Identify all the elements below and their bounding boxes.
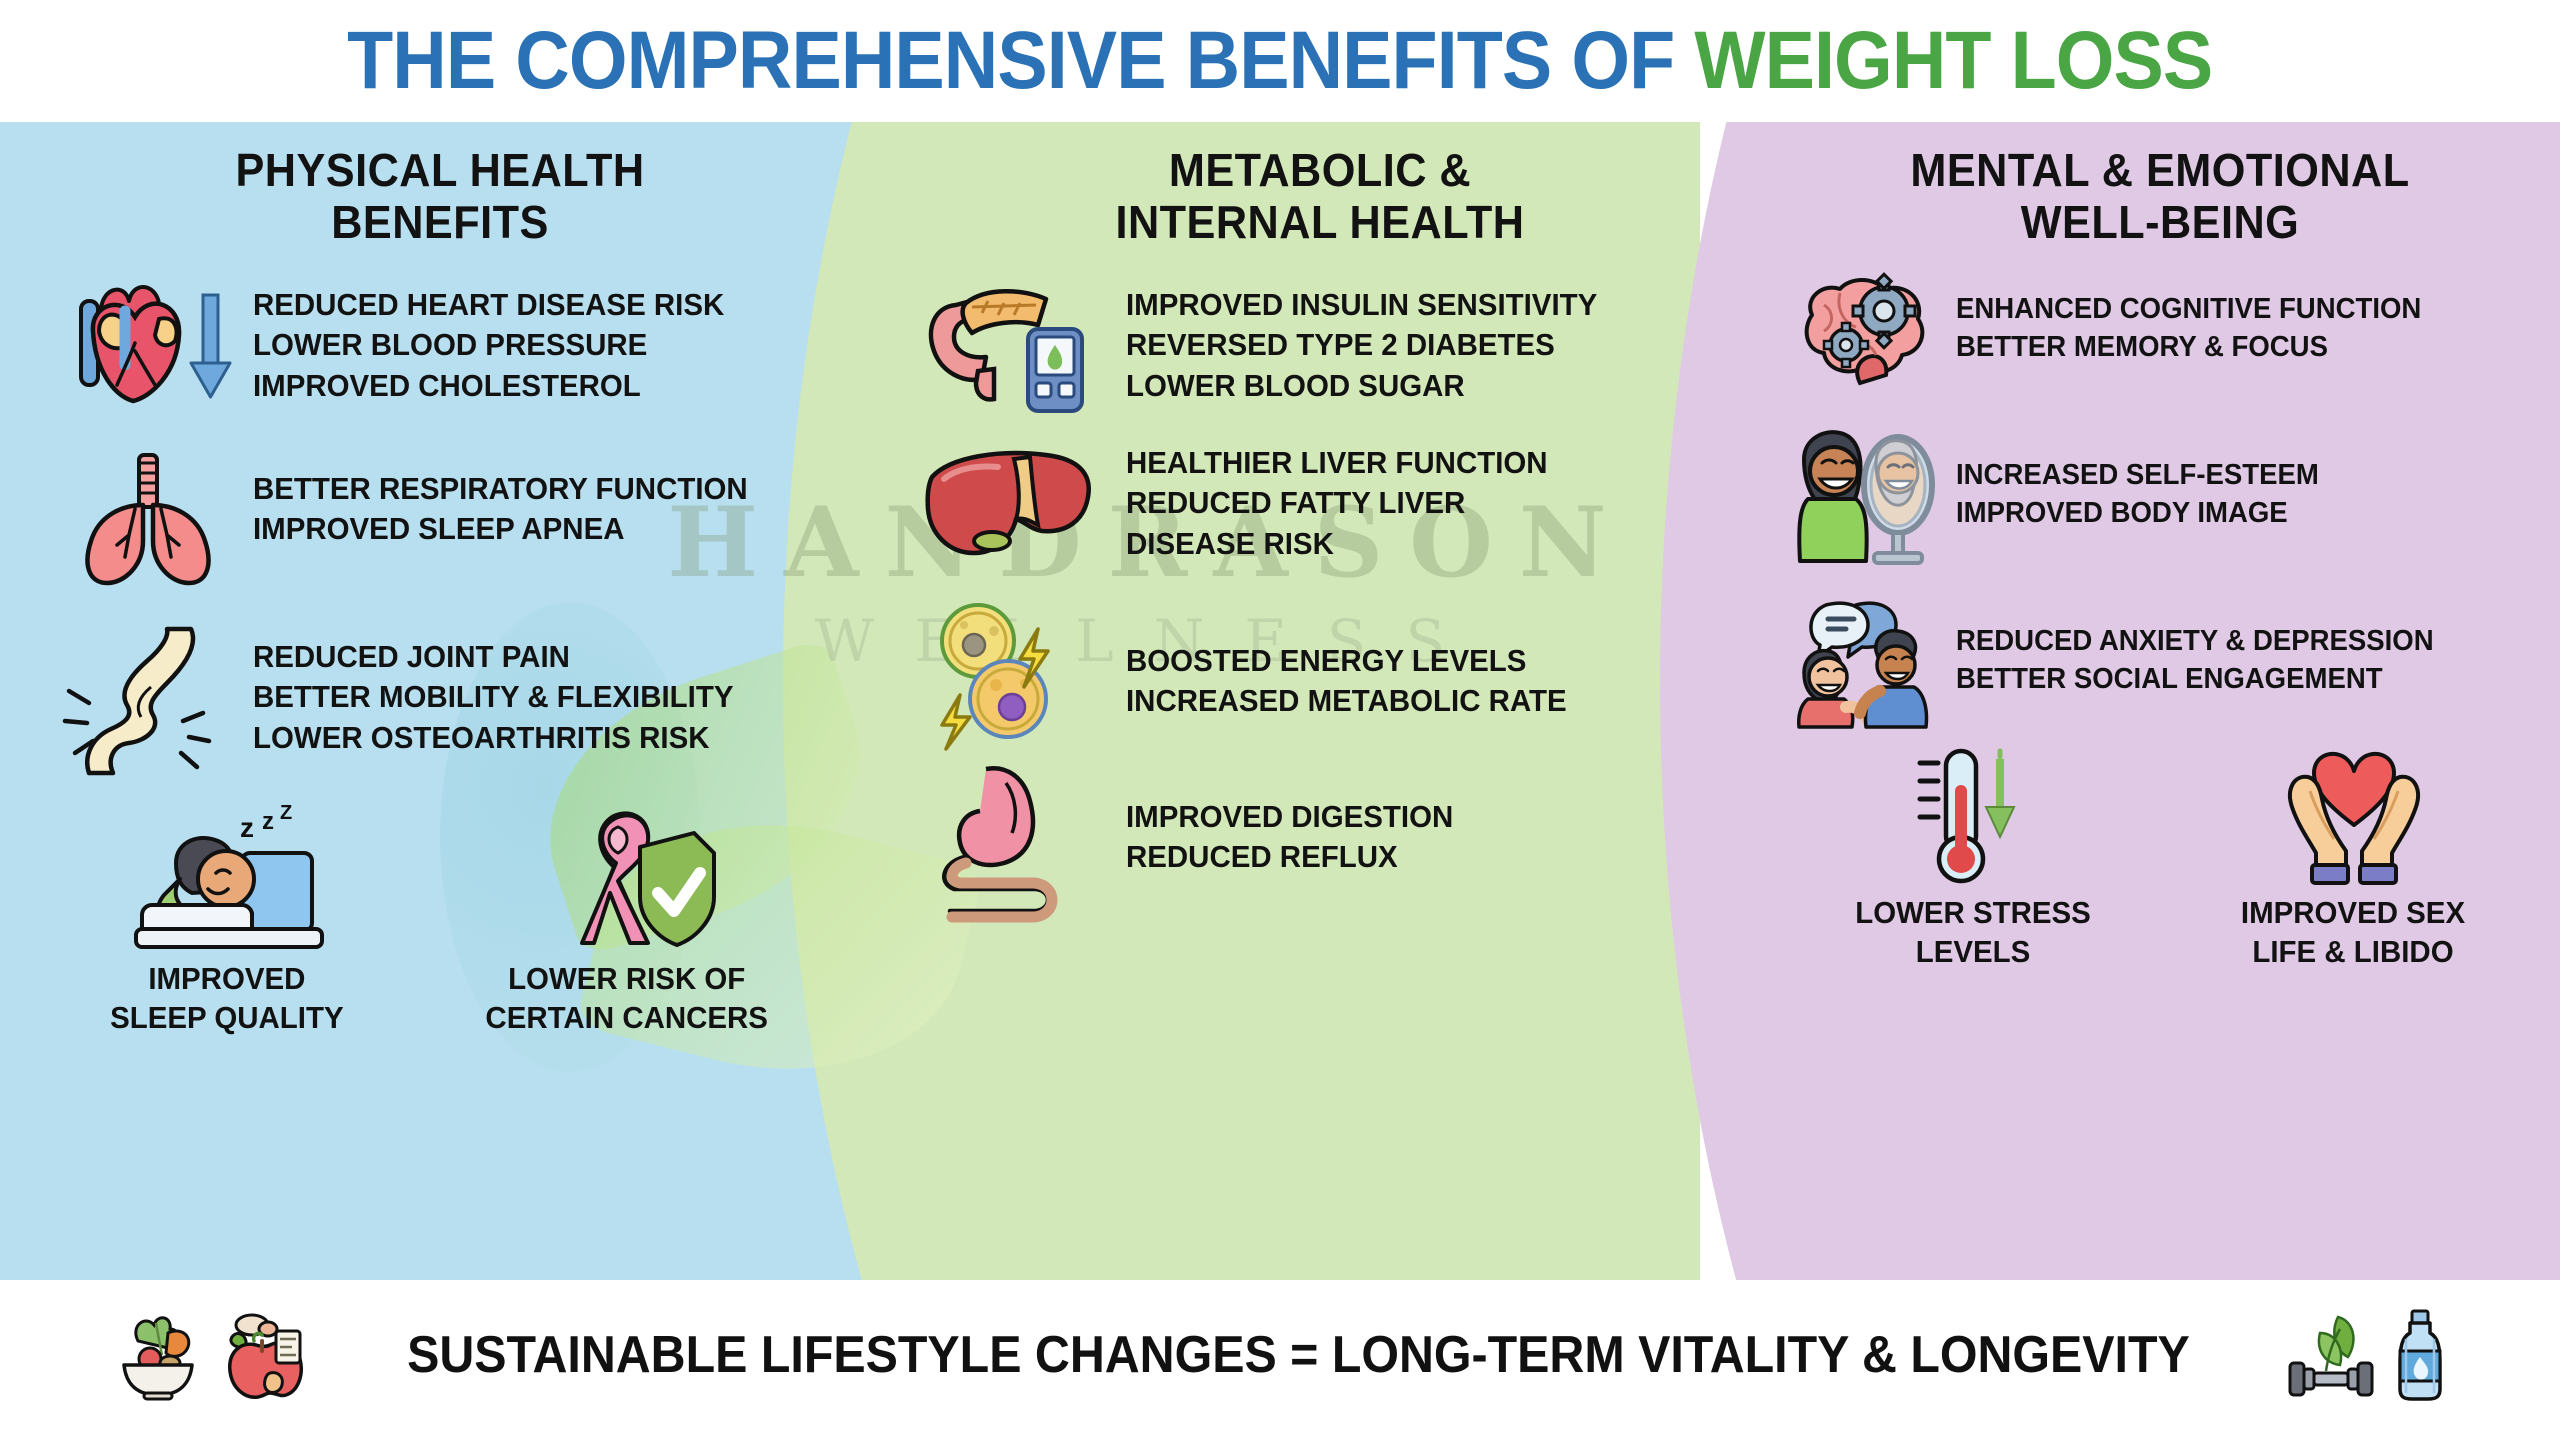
two-people-talking-icon <box>1790 599 1940 729</box>
caption-line2: SLEEP QUALITY <box>110 998 343 1037</box>
benefit-line: REDUCED FATTY LIVER <box>1126 483 1548 524</box>
water-bottle-icon <box>2390 1307 2450 1403</box>
column-physical-health: PHYSICAL HEALTH BENEFITS REDUCED <box>0 122 880 1280</box>
svg-text:Z: Z <box>280 802 292 824</box>
benefit-line: IMPROVED SLEEP APNEA <box>253 509 748 550</box>
svg-text:z: z <box>262 808 274 835</box>
column-metabolic-health: METABOLIC & INTERNAL HEALTH IMPR <box>880 122 1760 1280</box>
column-heading-line1: MENTAL & EMOTIONAL <box>1840 144 2479 196</box>
benefit-line: REDUCED REFLUX <box>1126 837 1453 878</box>
benefit-line: REDUCED HEART DISEASE RISK <box>253 285 724 326</box>
benefit-duo-physical: z z Z IMPROVED SLEEP QUALITY <box>40 801 840 1037</box>
benefit-line: IMPROVED CHOLESTEROL <box>253 366 724 407</box>
benefit-duo-caption: IMPROVED SLEEP QUALITY <box>110 959 343 1037</box>
benefit-line: BETTER MOBILITY & FLEXIBILITY <box>253 677 733 718</box>
benefit-row: ENHANCED COGNITIVE FUNCTION BETTER MEMOR… <box>1790 275 2560 395</box>
benefit-line: REDUCED ANXIETY & DEPRESSION <box>1956 623 2434 661</box>
benefit-text-block: BETTER RESPIRATORY FUNCTION IMPROVED SLE… <box>253 469 748 550</box>
pink-ribbon-shield-icon <box>522 801 732 951</box>
column-mental-wellbeing: MENTAL & EMOTIONAL WELL-BEING <box>1760 122 2560 1280</box>
benefit-text-block: ENHANCED COGNITIVE FUNCTION BETTER MEMOR… <box>1956 291 2421 367</box>
benefit-text-block: REDUCED HEART DISEASE RISK LOWER BLOOD P… <box>253 285 724 407</box>
column-heading-line1: METABOLIC & <box>1010 144 1630 196</box>
svg-text:z: z <box>240 812 254 843</box>
infographic-poster: THE COMPREHENSIVE BENEFITS OF WEIGHT LOS… <box>0 0 2560 1429</box>
benefit-line: LOWER BLOOD PRESSURE <box>253 325 724 366</box>
benefit-line: LOWER BLOOD SUGAR <box>1126 366 1597 407</box>
benefit-text-block: IMPROVED INSULIN SENSITIVITY REVERSED TY… <box>1126 285 1597 407</box>
benefit-row: REDUCED JOINT PAIN BETTER MOBILITY & FLE… <box>60 625 880 775</box>
benefit-text-block: INCREASED SELF-ESTEEM IMPROVED BODY IMAG… <box>1956 457 2319 533</box>
benefit-line: IMPROVED BODY IMAGE <box>1956 495 2319 533</box>
apple-nutrition-icon <box>218 1307 314 1403</box>
column-heading-mental: MENTAL & EMOTIONAL WELL-BEING <box>1784 144 2536 249</box>
heart-with-down-arrow-icon <box>60 273 235 413</box>
caption-line1: LOWER STRESS <box>1855 893 2091 932</box>
caption-line1: IMPROVED <box>110 959 343 998</box>
footer-right-icons <box>2282 1307 2450 1403</box>
benefit-row: REDUCED ANXIETY & DEPRESSION BETTER SOCI… <box>1790 599 2560 729</box>
benefit-row: INCREASED SELF-ESTEEM IMPROVED BODY IMAG… <box>1790 429 2560 569</box>
benefit-text-block: HEALTHIER LIVER FUNCTION REDUCED FATTY L… <box>1126 443 1548 565</box>
benefit-row: IMPROVED DIGESTION REDUCED REFLUX <box>920 763 1760 923</box>
benefit-duo-item: LOWER RISK OF CERTAIN CANCERS <box>478 801 775 1037</box>
benefit-duo-mental: LOWER STRESS LEVELS <box>1780 745 2540 971</box>
brain-gears-icon <box>1790 275 1940 395</box>
hands-holding-heart-icon <box>2268 745 2438 885</box>
caption-line2: LIFE & LIBIDO <box>2241 932 2465 971</box>
benefit-text-block: REDUCED JOINT PAIN BETTER MOBILITY & FLE… <box>253 637 733 759</box>
page-title: THE COMPREHENSIVE BENEFITS OF WEIGHT LOS… <box>347 20 2212 102</box>
benefit-line: BOOSTED ENERGY LEVELS <box>1126 641 1567 682</box>
benefit-text-block: IMPROVED DIGESTION REDUCED REFLUX <box>1126 797 1453 878</box>
liver-icon <box>920 441 1110 571</box>
benefit-line: INCREASED METABOLIC RATE <box>1126 681 1567 722</box>
dumbbell-leaf-icon <box>2282 1307 2378 1403</box>
column-heading-line2: INTERNAL HEALTH <box>1010 196 1630 248</box>
pancreas-glucose-meter-icon <box>920 273 1110 413</box>
caption-line2: CERTAIN CANCERS <box>486 998 769 1037</box>
benefit-line: BETTER MEMORY & FOCUS <box>1956 329 2421 367</box>
benefit-line: HEALTHIER LIVER FUNCTION <box>1126 443 1548 484</box>
benefit-line: BETTER RESPIRATORY FUNCTION <box>253 469 748 510</box>
benefit-row: BETTER RESPIRATORY FUNCTION IMPROVED SLE… <box>60 449 880 589</box>
title-part-primary: THE COMPREHENSIVE BENEFITS OF <box>347 15 1694 106</box>
benefit-line: ENHANCED COGNITIVE FUNCTION <box>1956 291 2421 329</box>
benefit-line: REDUCED JOINT PAIN <box>253 637 733 678</box>
benefit-line: REVERSED TYPE 2 DIABETES <box>1126 325 1597 366</box>
column-heading-line2: WELL-BEING <box>1840 196 2479 248</box>
title-part-accent: WEIGHT LOSS <box>1695 15 2213 106</box>
benefit-duo-caption: IMPROVED SEX LIFE & LIBIDO <box>2241 893 2465 971</box>
caption-line1: IMPROVED SEX <box>2241 893 2465 932</box>
caption-line2: LEVELS <box>1855 932 2091 971</box>
column-heading-metabolic: METABOLIC & INTERNAL HEALTH <box>906 144 1733 249</box>
benefit-row: BOOSTED ENERGY LEVELS INCREASED METABOLI… <box>920 599 1760 749</box>
benefit-line: IMPROVED DIGESTION <box>1126 797 1453 838</box>
person-mirror-icon <box>1790 429 1940 569</box>
footer-tagline: SUSTAINABLE LIFESTYLE CHANGES = LONG-TER… <box>407 1325 2190 1385</box>
knee-joint-icon <box>60 625 235 775</box>
column-heading-physical: PHYSICAL HEALTH BENEFITS <box>26 144 853 249</box>
poster-title-bar: THE COMPREHENSIVE BENEFITS OF WEIGHT LOS… <box>0 0 2560 122</box>
lungs-icon <box>60 449 235 589</box>
benefit-line: INCREASED SELF-ESTEEM <box>1956 457 2319 495</box>
benefit-text-block: REDUCED ANXIETY & DEPRESSION BETTER SOCI… <box>1956 623 2434 699</box>
salad-bowl-icon <box>110 1307 206 1403</box>
sleeping-person-icon: z z Z <box>122 801 332 951</box>
benefit-duo-caption: LOWER STRESS LEVELS <box>1855 893 2091 971</box>
benefit-duo-item: IMPROVED SEX LIFE & LIBIDO <box>2235 745 2471 971</box>
footer-banner: SUSTAINABLE LIFESTYLE CHANGES = LONG-TER… <box>0 1280 2560 1429</box>
caption-line1: LOWER RISK OF <box>486 959 769 998</box>
benefit-duo-caption: LOWER RISK OF CERTAIN CANCERS <box>486 959 769 1037</box>
footer-left-icons <box>110 1307 314 1403</box>
benefit-line: DISEASE RISK <box>1126 524 1548 565</box>
benefit-text-block: BOOSTED ENERGY LEVELS INCREASED METABOLI… <box>1126 641 1567 722</box>
column-heading-line2: BENEFITS <box>139 196 741 248</box>
thermometer-down-arrow-icon <box>1888 745 2058 885</box>
cells-energy-bolt-icon <box>920 599 1110 749</box>
column-heading-line1: PHYSICAL HEALTH <box>139 144 741 196</box>
benefit-duo-item: LOWER STRESS LEVELS <box>1849 745 2097 971</box>
benefit-row: IMPROVED INSULIN SENSITIVITY REVERSED TY… <box>920 273 1760 413</box>
benefit-line: IMPROVED INSULIN SENSITIVITY <box>1126 285 1597 326</box>
benefit-row: HEALTHIER LIVER FUNCTION REDUCED FATTY L… <box>920 441 1760 571</box>
benefit-duo-item: z z Z IMPROVED SLEEP QUALITY <box>104 801 350 1037</box>
benefit-line: LOWER OSTEOARTHRITIS RISK <box>253 718 733 759</box>
benefit-row: REDUCED HEART DISEASE RISK LOWER BLOOD P… <box>60 273 880 413</box>
stomach-intestine-icon <box>920 763 1110 923</box>
benefit-line: BETTER SOCIAL ENGAGEMENT <box>1956 661 2434 699</box>
